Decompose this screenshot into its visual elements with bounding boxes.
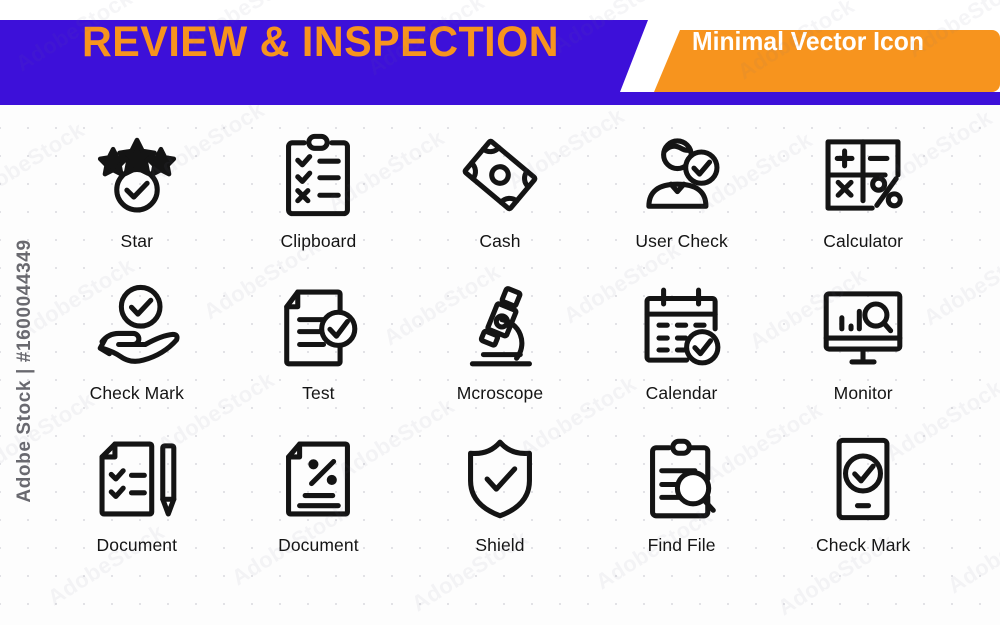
hand-check-mark-icon	[89, 279, 185, 375]
cash-banknote-icon	[452, 127, 548, 223]
icon-label: Star	[121, 231, 154, 252]
icon-cell-monitor[interactable]: Monitor	[772, 279, 954, 431]
icon-sheet-page: REVIEW & INSPECTION Minimal Vector Icon …	[0, 0, 1000, 625]
icon-label: Document	[278, 535, 359, 556]
icon-cell-calendar[interactable]: Calendar	[591, 279, 773, 431]
clipboard-checklist-icon	[270, 127, 366, 223]
icon-cell-cash[interactable]: Cash	[409, 127, 591, 279]
icon-cell-star[interactable]: Star	[46, 127, 228, 279]
monitor-chart-search-icon	[815, 279, 911, 375]
icon-cell-test[interactable]: Test	[228, 279, 410, 431]
icon-label: Check Mark	[90, 383, 184, 404]
document-percent-icon	[270, 431, 366, 527]
icon-label: Monitor	[834, 383, 893, 404]
page-title: REVIEW & INSPECTION	[82, 16, 559, 68]
banner-badge-label: Minimal Vector Icon	[692, 26, 924, 56]
icon-label: Shield	[475, 535, 524, 556]
icon-cell-document-percent[interactable]: Document	[228, 431, 410, 583]
icon-cell-shield[interactable]: Shield	[409, 431, 591, 583]
icon-label: Calendar	[646, 383, 718, 404]
calendar-check-icon	[634, 279, 730, 375]
icon-grid-wrapper: Star Clipboard	[0, 105, 1000, 625]
icon-cell-microscope[interactable]: Mcroscope	[409, 279, 591, 431]
icon-label: User Check	[635, 231, 727, 252]
icon-grid: Star Clipboard	[46, 127, 954, 583]
icon-cell-document-checklist[interactable]: Document	[46, 431, 228, 583]
calculator-icon	[815, 127, 911, 223]
icon-cell-calculator[interactable]: Calculator	[772, 127, 954, 279]
icon-label: Find File	[648, 535, 716, 556]
icon-cell-check-mark-phone[interactable]: Check Mark	[772, 431, 954, 583]
icon-label: Mcroscope	[457, 383, 544, 404]
icon-cell-check-mark-hand[interactable]: Check Mark	[46, 279, 228, 431]
clipboard-search-icon	[634, 431, 730, 527]
icon-cell-find-file[interactable]: Find File	[591, 431, 773, 583]
star-rating-check-icon	[89, 127, 185, 223]
icon-cell-clipboard[interactable]: Clipboard	[228, 127, 410, 279]
icon-label: Cash	[479, 231, 520, 252]
icon-label: Test	[302, 383, 335, 404]
document-check-test-icon	[270, 279, 366, 375]
document-checklist-pencil-icon	[89, 431, 185, 527]
microscope-icon	[452, 279, 548, 375]
icon-label: Clipboard	[280, 231, 356, 252]
icon-label: Document	[97, 535, 178, 556]
icon-label: Calculator	[823, 231, 903, 252]
shield-check-icon	[452, 431, 548, 527]
icon-cell-user-check[interactable]: User Check	[591, 127, 773, 279]
icon-label: Check Mark	[816, 535, 910, 556]
user-check-icon	[634, 127, 730, 223]
phone-check-mark-icon	[815, 431, 911, 527]
